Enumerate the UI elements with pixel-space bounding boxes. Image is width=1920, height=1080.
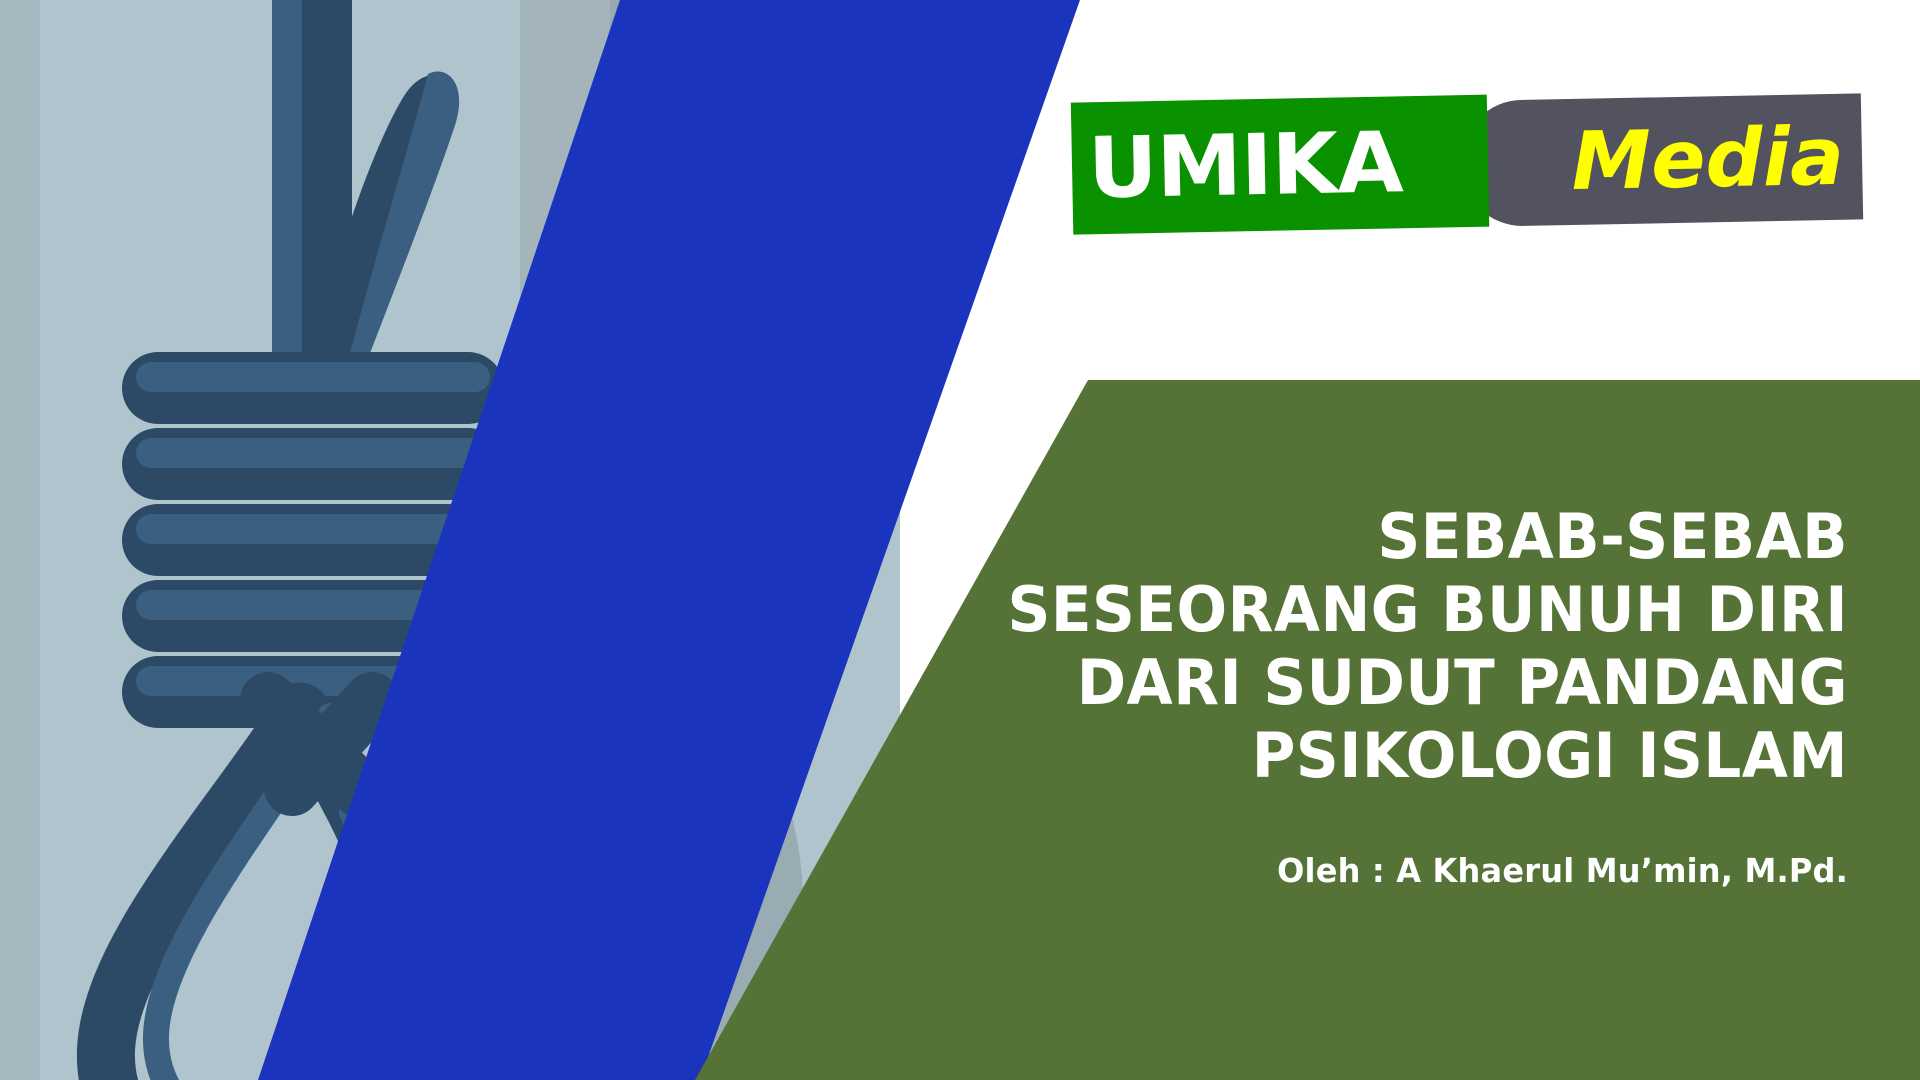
noose-knot bbox=[122, 352, 504, 728]
author-byline: Oleh : A Khaerul Mu’min, M.Pd. bbox=[878, 851, 1848, 891]
logo-secondary-text: Media bbox=[1571, 117, 1845, 202]
title-slide: Media UMIKA SEBAB-SEBAB SESEORANG BUNUH … bbox=[0, 0, 1920, 1080]
title-block: SEBAB-SEBAB SESEORANG BUNUH DIRI DARI SU… bbox=[848, 500, 1848, 890]
title-line-2: SESEORANG BUNUH DIRI bbox=[888, 573, 1848, 646]
title-line-1: SEBAB-SEBAB bbox=[888, 500, 1848, 573]
logo-primary-plate: UMIKA bbox=[1071, 95, 1489, 235]
logo-primary-text: UMIKA bbox=[1087, 120, 1403, 210]
title-line-3: DARI SUDUT PANDANG bbox=[888, 646, 1848, 719]
illustration-panel bbox=[0, 0, 900, 1080]
title-line-4: PSIKOLOGI ISLAM bbox=[888, 719, 1848, 792]
hanging-noose-illustration bbox=[0, 0, 900, 1080]
logo-secondary-plate: Media bbox=[1461, 93, 1863, 227]
umika-media-logo: Media UMIKA bbox=[1071, 87, 1863, 234]
